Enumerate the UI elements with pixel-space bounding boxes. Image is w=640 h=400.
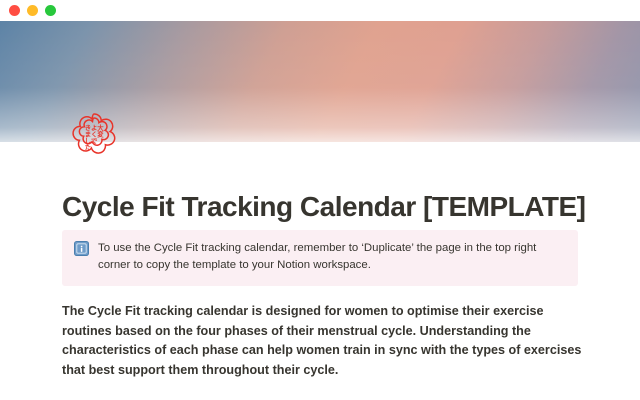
page-body: Cycle Fit Tracking Calendar [TEMPLATE] T… (0, 142, 640, 400)
callout-block[interactable]: To use the Cycle Fit tracking calendar, … (62, 230, 578, 286)
svg-text:で: で (91, 137, 98, 145)
window-titlebar (0, 0, 640, 21)
page-title[interactable]: Cycle Fit Tracking Calendar [TEMPLATE] (62, 191, 582, 222)
svg-text:変: 変 (97, 130, 104, 139)
sakura-stamp-icon[interactable]: 大 変 よ く で き ま し た (69, 111, 119, 161)
callout-text: To use the Cycle Fit tracking calendar, … (98, 240, 564, 275)
traffic-light-group (9, 5, 56, 16)
intro-paragraph[interactable]: The Cycle Fit tracking calendar is desig… (62, 302, 582, 381)
zoom-window-button[interactable] (45, 5, 56, 16)
close-window-button[interactable] (9, 5, 20, 16)
svg-text:た: た (85, 144, 91, 152)
information-icon (74, 241, 89, 256)
minimize-window-button[interactable] (27, 5, 38, 16)
